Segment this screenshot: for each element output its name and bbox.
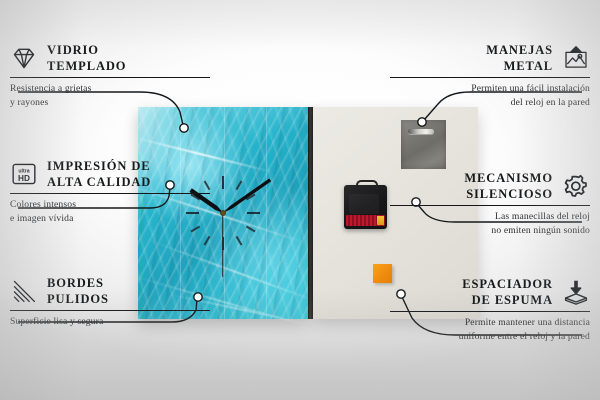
ultra-hd-icon-bottom: HD: [18, 174, 30, 183]
callout-title-line1: MECANISMO: [464, 170, 553, 186]
callout-vidrio-templado[interactable]: VIDRIO TEMPLADO Resistencia a grietas y …: [10, 42, 210, 110]
hanging-frame-icon: [562, 45, 590, 71]
clock-minute-hand: [222, 178, 272, 214]
ultra-hd-icon: ultra HD: [10, 161, 38, 187]
callout-rule: [10, 310, 210, 311]
callout-title-line2: TEMPLADO: [47, 58, 126, 74]
callout-title-line1: VIDRIO: [47, 42, 126, 58]
callout-title-line2: METAL: [486, 58, 553, 74]
callout-desc-line1: Permiten una fácil instalación: [390, 82, 590, 96]
callout-rule: [390, 311, 590, 312]
mechanism-plate: [349, 194, 379, 214]
callout-rule: [10, 77, 210, 78]
clock-mechanism: [344, 185, 387, 229]
callout-desc-line2: del reloj en la pared: [390, 96, 590, 110]
callout-desc-line1: Colores intensos: [10, 198, 210, 212]
callout-desc-line2: y rayones: [10, 96, 210, 110]
diamond-icon: [10, 45, 38, 71]
hanger-slot: [408, 129, 434, 134]
callout-title-line2: PULIDOS: [47, 291, 109, 307]
callout-espaciador-espuma[interactable]: ESPACIADOR DE ESPUMA Permite mantener un…: [390, 276, 590, 344]
callout-desc-line1: Resistencia a grietas: [10, 82, 210, 96]
gear-icon: [562, 173, 590, 199]
callout-desc-line1: Superficie lisa y segura: [10, 315, 210, 329]
callout-desc-line1: Las manecillas del reloj: [390, 210, 590, 224]
callout-manejas-metal[interactable]: MANEJAS METAL Permiten una fácil instala…: [390, 42, 590, 110]
callout-impresion-alta-calidad[interactable]: ultra HD IMPRESIÓN DE ALTA CALIDAD Color…: [10, 158, 210, 226]
callout-title-line1: ESPACIADOR: [462, 276, 553, 292]
infographic-canvas: VIDRIO TEMPLADO Resistencia a grietas y …: [0, 0, 600, 400]
callout-desc-line1: Permite mantener una distancia: [390, 316, 590, 330]
callout-rule: [10, 193, 210, 194]
beveled-edge-icon: [10, 278, 38, 304]
foam-spacer-icon: [562, 279, 590, 305]
callout-title-line1: BORDES: [47, 275, 109, 291]
metal-hanger-plate: [401, 120, 446, 169]
callout-rule: [390, 77, 590, 78]
battery: [346, 215, 385, 226]
callout-title-line1: MANEJAS: [486, 42, 553, 58]
callout-title-line1: IMPRESIÓN DE: [47, 158, 151, 174]
callout-rule: [390, 205, 590, 206]
callout-desc-line2: no emiten ningún sonido: [390, 224, 590, 238]
mechanism-hook: [356, 180, 378, 189]
callout-title-line2: DE ESPUMA: [462, 292, 553, 308]
callout-title-line2: SILENCIOSO: [464, 186, 553, 202]
callout-mecanismo-silencioso[interactable]: MECANISMO SILENCIOSO Las manecillas del …: [390, 170, 590, 238]
callout-desc-line2: e imagen vívida: [10, 212, 210, 226]
callout-desc-line2: uniforme entre el reloj y la pared: [390, 330, 590, 344]
clock-center-pin: [220, 210, 226, 216]
callout-title-line2: ALTA CALIDAD: [47, 174, 151, 190]
callout-bordes-pulidos[interactable]: BORDES PULIDOS Superficie lisa y segura: [10, 275, 210, 329]
